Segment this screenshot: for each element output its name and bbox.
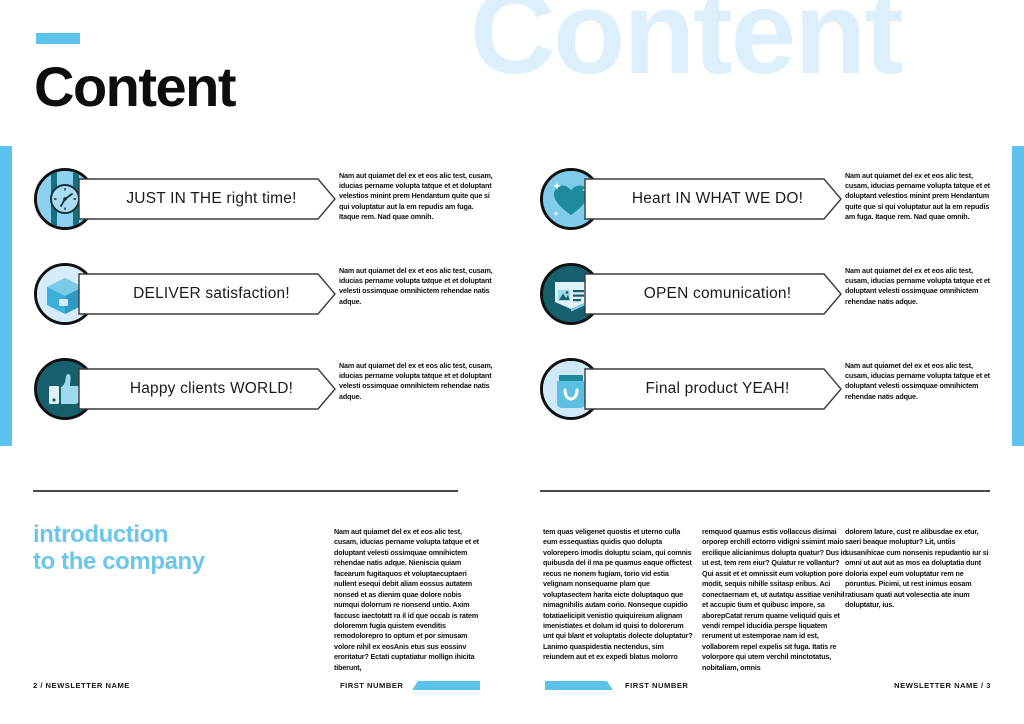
footer-left-page-label: 2 / NEWSLETTER NAME [33,681,130,690]
feature-column-left: JUST IN THE right time! Nam aut quiamet … [34,163,494,448]
left-edge-accent-bar [0,146,12,446]
feature-label: DELIVER satisfaction! [94,273,329,315]
feature-label: Happy clients WORLD! [94,368,329,410]
feature-row: DELIVER satisfaction! Nam aut quiamet de… [34,258,494,353]
footer-right-page-label: NEWSLETTER NAME / 3 [894,681,991,690]
intro-heading-line1: introduction [33,522,205,549]
feature-body-text: Nam aut quiamet del ex et eos alic test,… [845,266,997,307]
feature-row: Heart IN WHAT WE DO! Nam aut quiamet del… [540,163,1002,258]
feature-body-text: Nam aut quiamet del ex et eos alic test,… [845,171,997,222]
watermark-title: Content [470,0,902,92]
feature-label: JUST IN THE right time! [94,178,329,220]
footer-right-number-label: FIRST NUMBER [625,681,688,690]
intro-heading: introduction to the company [33,522,205,576]
intro-heading-line2: to the company [33,549,205,576]
feature-body-text: Nam aut quiamet del ex et eos alic test,… [339,266,494,307]
feature-column-right: Heart IN WHAT WE DO! Nam aut quiamet del… [540,163,1002,448]
feature-body-text: Nam aut quiamet del ex et eos alic test,… [845,361,997,402]
feature-body-text: Nam aut quiamet del ex et eos alic test,… [339,171,494,222]
feature-row: Final product YEAH! Nam aut quiamet del … [540,353,1002,448]
right-edge-accent-bar [1012,146,1024,446]
intro-body-column: dolorem lature, cust re alibusdae ex etu… [845,527,995,611]
intro-body-column: Nam aut quiamet del ex et eos alic test,… [334,527,486,673]
footer-accent-bar-left [412,681,480,690]
magazine-spread: Content Content [0,0,1024,724]
intro-body-column: tem quas veligenet quostis et uterno cul… [543,527,695,663]
feature-body-text: Nam aut quiamet del ex et eos alic test,… [339,361,494,402]
section-divider-right [540,490,990,492]
feature-label: OPEN comunication! [600,273,835,315]
feature-label: Heart IN WHAT WE DO! [600,178,835,220]
feature-row: JUST IN THE right time! Nam aut quiamet … [34,163,494,258]
title-accent-dash [36,33,80,44]
footer-accent-bar-right [545,681,613,690]
feature-label: Final product YEAH! [600,368,835,410]
section-divider-left [33,490,458,492]
feature-row: Happy clients WORLD! Nam aut quiamet del… [34,353,494,448]
footer-left-number-label: FIRST NUMBER [340,681,403,690]
intro-body-column: remquod quamus estis vollaccus disimai o… [702,527,848,673]
page-title: Content [34,56,235,118]
feature-row: OPEN comunication! Nam aut quiamet del e… [540,258,1002,353]
